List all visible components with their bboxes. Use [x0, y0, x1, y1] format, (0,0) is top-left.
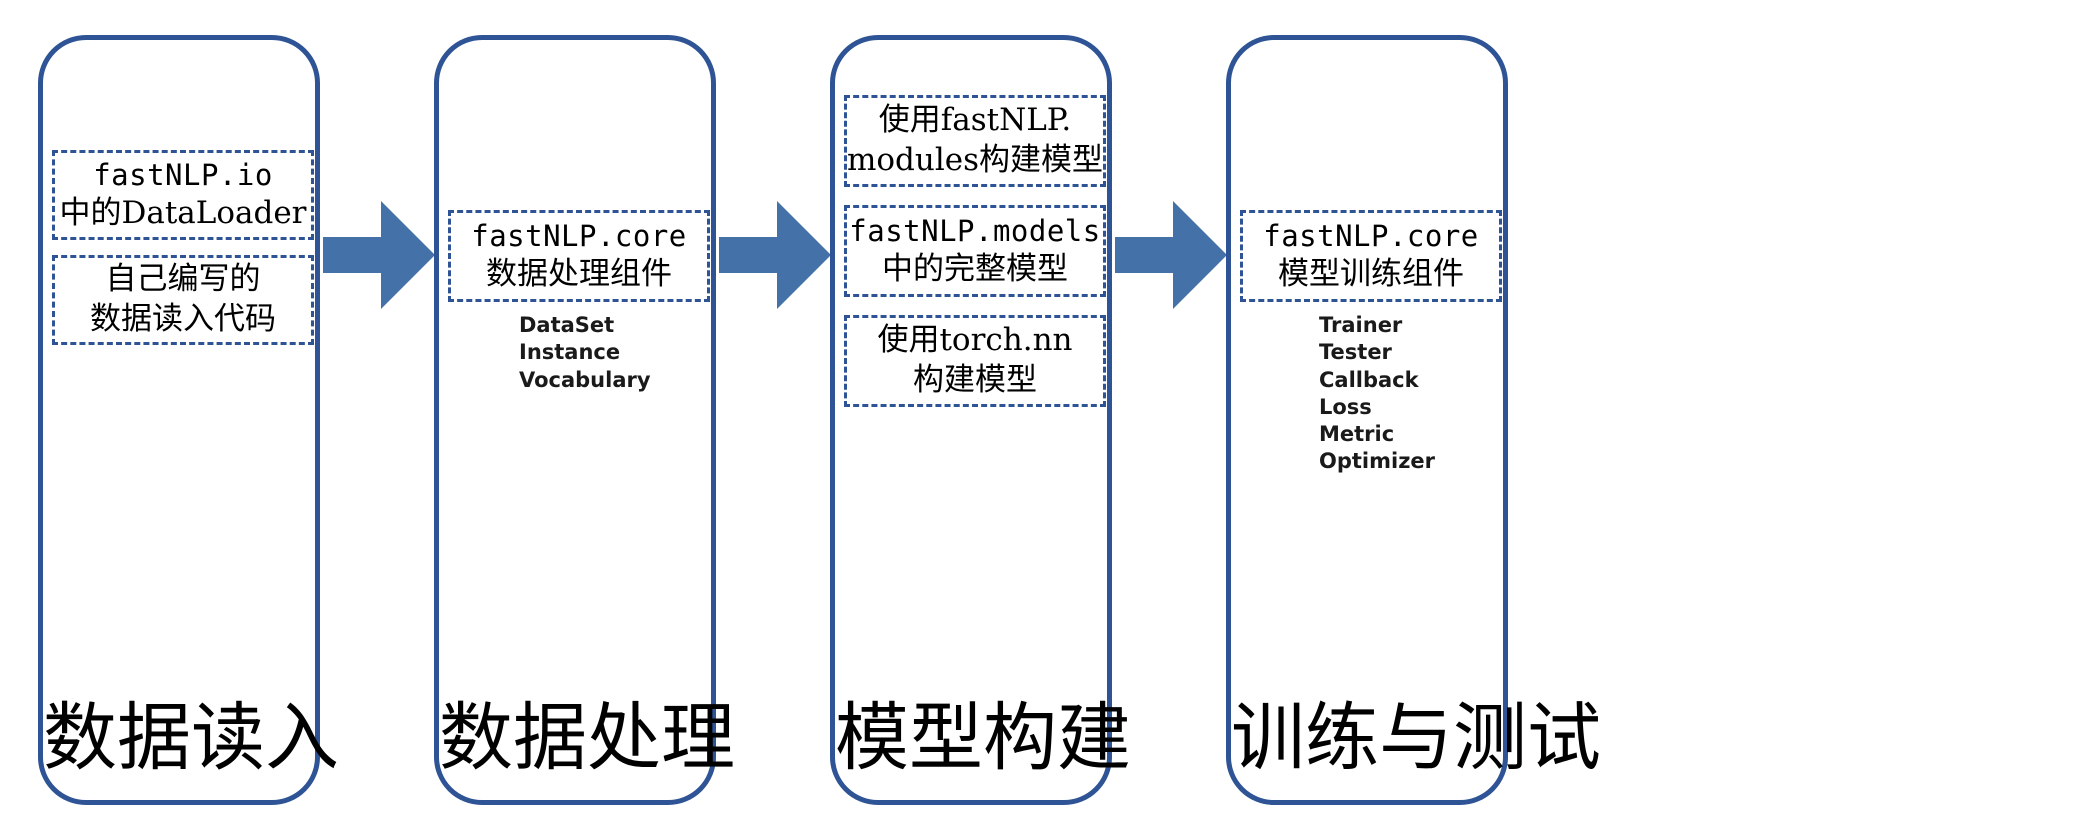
panel-model-building[interactable]: 使用fastNLP. modules构建模型 fastNLP.models 中的…: [830, 35, 1112, 805]
box-line: 模型训练组件: [1278, 255, 1464, 295]
panel-data-loading[interactable]: fastNLP.io 中的DataLoader 自己编写的 数据读入代码 数据读…: [38, 35, 320, 805]
box-line: 使用torch.nn: [877, 321, 1072, 361]
list-item: Callback: [1319, 367, 1435, 394]
box-custom-loader-code[interactable]: 自己编写的 数据读入代码: [52, 255, 314, 345]
box-line: fastNLP.models: [849, 213, 1100, 250]
box-line: fastNLP.core: [471, 218, 687, 255]
box-line: 数据处理组件: [486, 255, 672, 295]
box-line: 构建模型: [913, 361, 1037, 401]
diagram-canvas: fastNLP.io 中的DataLoader 自己编写的 数据读入代码 数据读…: [0, 0, 2078, 840]
box-fastnlp-modules[interactable]: 使用fastNLP. modules构建模型: [844, 95, 1106, 187]
box-line: modules构建模型: [847, 141, 1103, 181]
panel-title: 数据读入: [43, 701, 315, 776]
box-line: 中的DataLoader: [59, 194, 306, 234]
box-line: 使用fastNLP.: [879, 101, 1071, 141]
component-list-train-and-test: Trainer Tester Callback Loss Metric Opti…: [1319, 312, 1435, 476]
box-fastnlp-io[interactable]: fastNLP.io 中的DataLoader: [52, 150, 314, 240]
list-item: Optimizer: [1319, 448, 1435, 475]
right-arrow-icon: [719, 195, 831, 315]
box-fastnlp-models[interactable]: fastNLP.models 中的完整模型: [844, 205, 1106, 297]
list-item: Metric: [1319, 421, 1435, 448]
list-item: Instance: [519, 339, 651, 366]
list-item: Vocabulary: [519, 367, 651, 394]
list-item: Trainer: [1319, 312, 1435, 339]
box-fastnlp-core-processing[interactable]: fastNLP.core 数据处理组件: [448, 210, 710, 302]
list-item: DataSet: [519, 312, 651, 339]
box-line: 中的完整模型: [882, 250, 1068, 290]
box-torch-nn[interactable]: 使用torch.nn 构建模型: [844, 315, 1106, 407]
box-line: 自己编写的: [106, 260, 261, 300]
box-fastnlp-core-training[interactable]: fastNLP.core 模型训练组件: [1240, 210, 1502, 302]
arrow-processing-to-model-building: [719, 195, 831, 315]
panel-title: 模型构建: [835, 701, 1107, 776]
arrow-data-loading-to-processing: [323, 195, 435, 315]
right-arrow-icon: [323, 195, 435, 315]
list-item: Loss: [1319, 394, 1435, 421]
box-line: 数据读入代码: [90, 300, 276, 340]
component-list-data-processing: DataSet Instance Vocabulary: [519, 312, 651, 394]
right-arrow-icon: [1115, 195, 1227, 315]
box-line: fastNLP.core: [1263, 218, 1479, 255]
panel-title: 数据处理: [439, 701, 711, 776]
panel-data-processing[interactable]: fastNLP.core 数据处理组件 DataSet Instance Voc…: [434, 35, 716, 805]
list-item: Tester: [1319, 339, 1435, 366]
panel-train-and-test[interactable]: fastNLP.core 模型训练组件 Trainer Tester Callb…: [1226, 35, 1508, 805]
arrow-model-building-to-train-test: [1115, 195, 1227, 315]
panel-title: 训练与测试: [1231, 701, 1503, 776]
box-line: fastNLP.io: [93, 157, 273, 194]
